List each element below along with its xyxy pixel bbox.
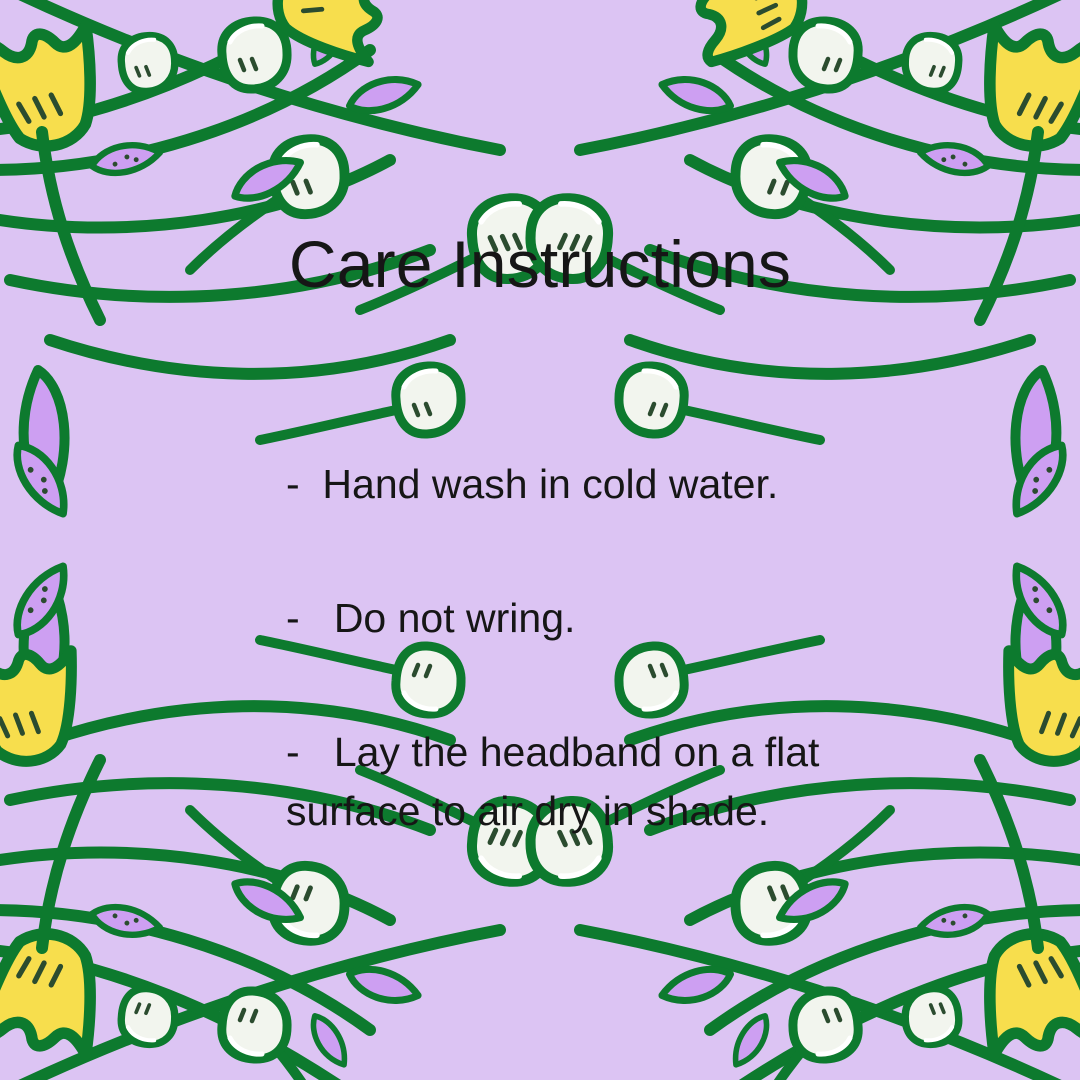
care-instructions-card: Care Instructions - Hand wash in cold wa… <box>0 0 1080 1080</box>
list-item: - Do not wring. <box>286 589 906 647</box>
care-instructions-list: - Hand wash in cold water. - Do not wrin… <box>286 455 906 840</box>
page-title: Care Instructions <box>0 228 1080 301</box>
card-content: Care Instructions - Hand wash in cold wa… <box>0 0 1080 1080</box>
list-item: - Lay the headband on a flat surface to … <box>286 723 906 839</box>
list-item: - Hand wash in cold water. <box>286 455 906 513</box>
